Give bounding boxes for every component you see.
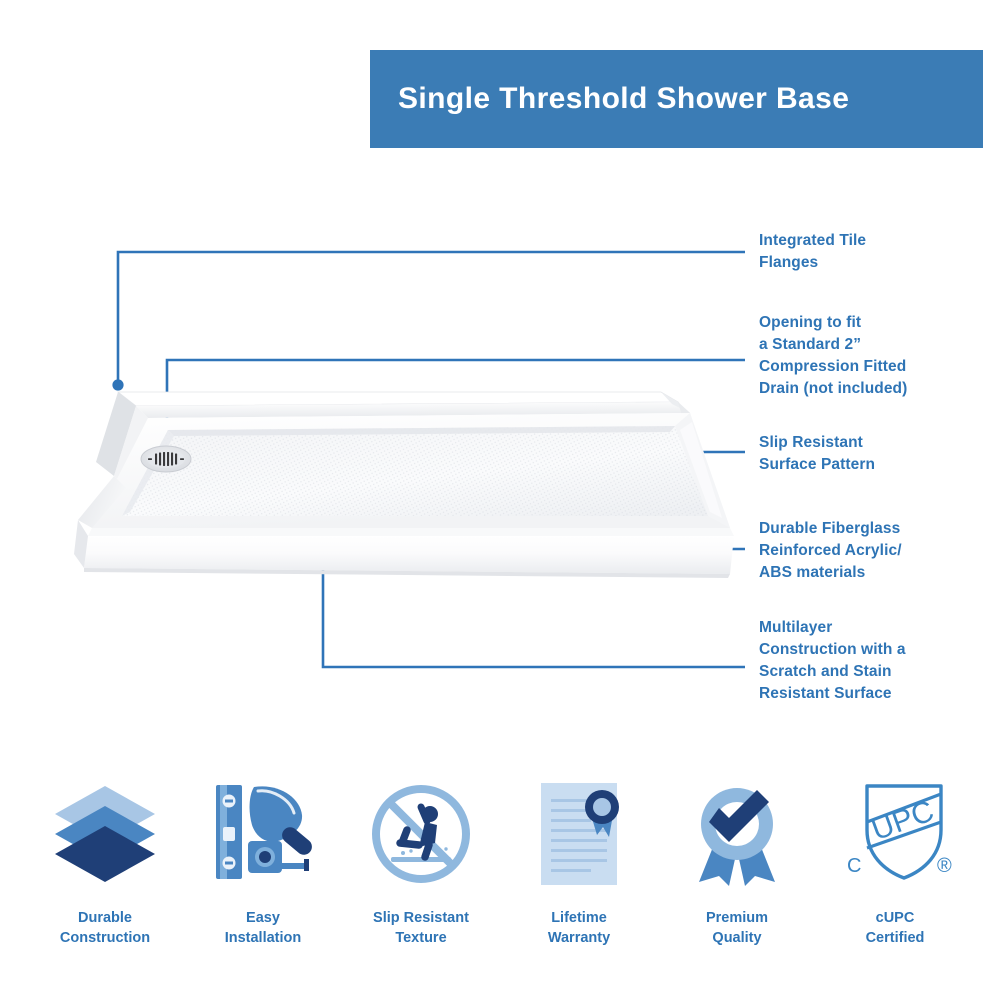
cupc-shield-icon: UPC C ® (837, 775, 953, 893)
tools-icon (208, 775, 318, 893)
feature-label: Slip Resistant Texture (373, 909, 469, 948)
certificate-icon (527, 775, 631, 893)
callout-integrated-tile-flanges: Integrated Tile Flanges (759, 230, 866, 274)
callout-multilayer-construction: Multilayer Construction with a Scratch a… (759, 617, 906, 705)
page-title: Single Threshold Shower Base (398, 82, 849, 116)
feature-cupc-certified: UPC C ® cUPC Certified (820, 775, 970, 948)
feature-label: Premium Quality (706, 909, 768, 948)
callout-drain-opening: Opening to fit a Standard 2” Compression… (759, 312, 907, 400)
cupc-mark-text: UPC (867, 794, 938, 847)
callout-durable-materials: Durable Fiberglass Reinforced Acrylic/ A… (759, 518, 902, 584)
feature-lifetime-warranty: Lifetime Warranty (504, 775, 654, 948)
cupc-registered-symbol: ® (937, 855, 952, 877)
feature-icons-row: Durable Construction (0, 775, 1000, 975)
layers-icon (51, 775, 159, 893)
feature-label: Durable Construction (60, 909, 150, 948)
header-banner: Single Threshold Shower Base (370, 50, 983, 148)
feature-durable-construction: Durable Construction (30, 775, 180, 948)
product-image-shower-base (18, 378, 740, 590)
drain-grate (141, 446, 191, 472)
infographic-page: Single Threshold Shower Base Integrated … (0, 0, 1000, 1000)
award-check-icon (685, 775, 789, 893)
callout-slip-resistant-surface: Slip Resistant Surface Pattern (759, 432, 875, 476)
feature-label: Easy Installation (225, 909, 302, 948)
cupc-left-letter: C (847, 855, 861, 877)
no-slip-icon (367, 775, 475, 893)
feature-label: cUPC Certified (866, 909, 925, 948)
feature-easy-installation: Easy Installation (188, 775, 338, 948)
feature-premium-quality: Premium Quality (662, 775, 812, 948)
leader-line-tile-flanges (118, 252, 745, 385)
feature-label: Lifetime Warranty (548, 909, 610, 948)
feature-slip-resistant-texture: Slip Resistant Texture (346, 775, 496, 948)
